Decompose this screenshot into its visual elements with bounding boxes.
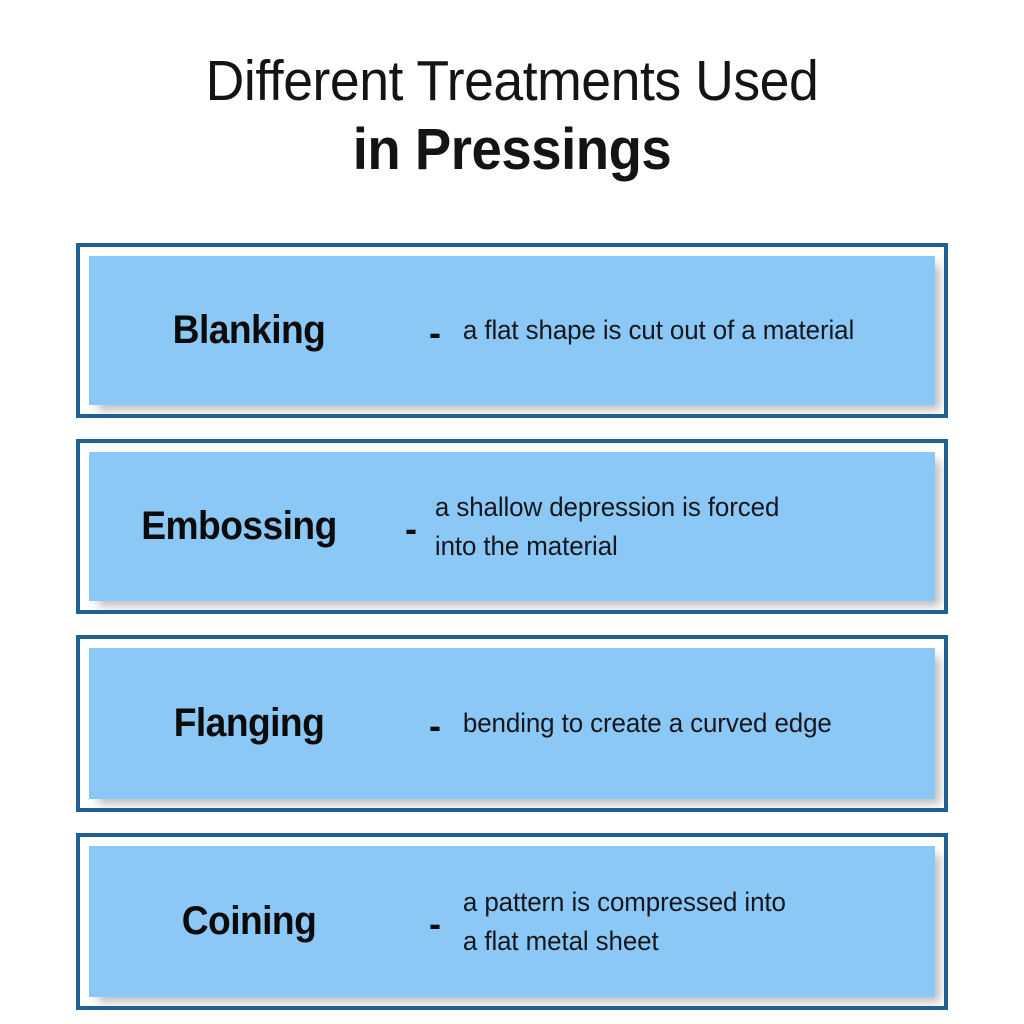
list-item-separator: - <box>409 315 461 351</box>
list-item-description: a pattern is compressed into a flat meta… <box>461 883 916 961</box>
list-item-body: Coining - a pattern is compressed into a… <box>89 846 935 997</box>
list-item-separator: - <box>409 906 461 942</box>
treatment-list: Blanking - a flat shape is cut out of a … <box>76 243 948 1010</box>
list-item[interactable]: Flanging - bending to create a curved ed… <box>76 635 948 812</box>
list-item-body: Blanking - a flat shape is cut out of a … <box>89 256 935 405</box>
list-item-description-line: a flat metal sheet <box>463 922 916 961</box>
list-item-description: a flat shape is cut out of a material <box>461 311 916 350</box>
list-item-term: Blanking <box>100 308 398 353</box>
list-item[interactable]: Blanking - a flat shape is cut out of a … <box>76 243 948 418</box>
list-item-term: Embossing <box>100 504 379 549</box>
list-item-description-line: bending to create a curved edge <box>463 704 916 743</box>
list-item[interactable]: Embossing - a shallow depression is forc… <box>76 439 948 614</box>
list-item-term: Coining <box>100 899 398 944</box>
list-item-body: Embossing - a shallow depression is forc… <box>89 452 935 601</box>
infographic-canvas: Different Treatments Used in Pressings B… <box>0 0 1024 1024</box>
list-item-description: a shallow depression is forced into the … <box>433 488 915 566</box>
page-title-line-1: Different Treatments Used <box>31 48 994 114</box>
list-item-description-line: a pattern is compressed into <box>463 883 916 922</box>
list-item-separator: - <box>389 511 433 547</box>
list-item-description-line: into the material <box>435 527 915 566</box>
page-title: Different Treatments Used in Pressings <box>0 48 1024 186</box>
page-title-line-2: in Pressings <box>31 114 994 186</box>
list-item-description-line: a flat shape is cut out of a material <box>463 311 916 350</box>
list-item-description-line: a shallow depression is forced <box>435 488 915 527</box>
list-item-description: bending to create a curved edge <box>461 704 916 743</box>
list-item-term: Flanging <box>100 701 398 746</box>
list-item-separator: - <box>409 708 461 744</box>
list-item-body: Flanging - bending to create a curved ed… <box>89 648 935 799</box>
list-item[interactable]: Coining - a pattern is compressed into a… <box>76 833 948 1010</box>
